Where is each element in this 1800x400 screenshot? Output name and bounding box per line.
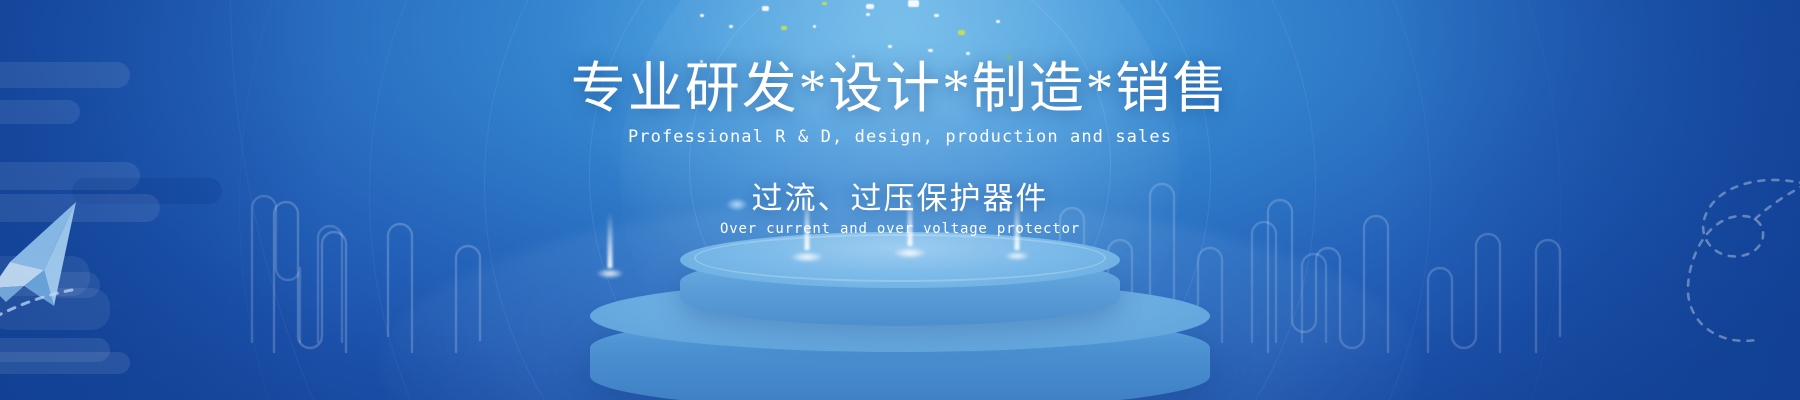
confetti-particle	[908, 0, 919, 7]
subheadline-chinese: 过流、过压保护器件	[0, 173, 1800, 218]
banner-text-stack: 专业研发*设计*制造*销售 Professional R & D, design…	[0, 58, 1800, 237]
hero-banner: 专业研发*设计*制造*销售 Professional R & D, design…	[0, 0, 1800, 400]
confetti-particle	[700, 14, 704, 17]
confetti-particle	[866, 4, 874, 9]
confetti-particle	[822, 2, 827, 5]
confetti-particle	[958, 30, 965, 35]
confetti-particle	[781, 26, 787, 30]
confetti-particle	[996, 20, 1000, 23]
confetti-particle	[729, 25, 733, 28]
confetti-particle	[866, 13, 870, 16]
headline-english: Professional R & D, design, production a…	[0, 127, 1800, 147]
subheadline-english: Over current and over voltage protector	[0, 221, 1800, 237]
confetti-particle	[934, 14, 939, 17]
confetti-particle	[813, 25, 816, 28]
confetti-particle	[928, 49, 933, 52]
confetti-particle	[966, 52, 970, 55]
confetti-particle	[888, 45, 892, 48]
headline-chinese: 专业研发*设计*制造*销售	[0, 58, 1800, 121]
confetti-particle	[762, 6, 769, 11]
